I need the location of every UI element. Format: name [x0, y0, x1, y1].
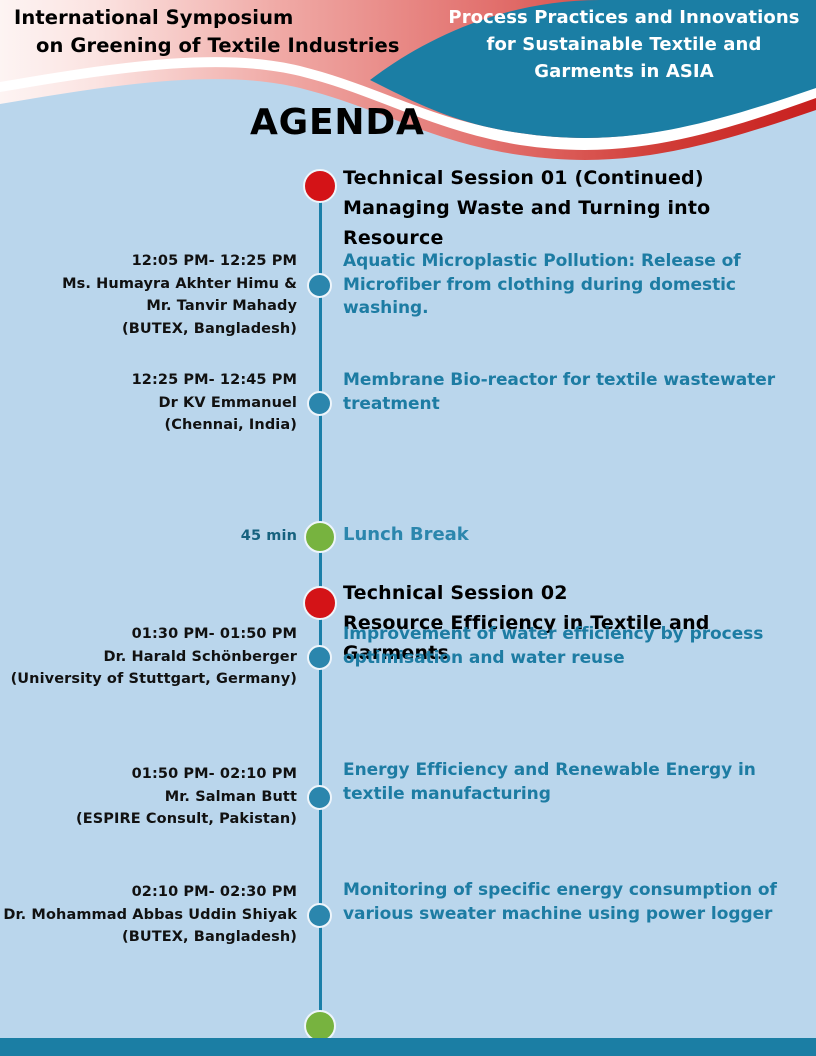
talk-4-topic-line2: textile manufacturing [343, 783, 808, 807]
talk-marker-icon [307, 391, 332, 416]
talk-5-affiliation: (BUTEX, Bangladesh) [0, 926, 297, 949]
talk-1-speaker-line2: Mr. Tanvir Mahady [0, 295, 297, 318]
talk-4-speaker-line1: Mr. Salman Butt [0, 786, 297, 809]
talk-5-topic-line2: various sweater machine using power logg… [343, 903, 808, 927]
session-marker-icon [303, 169, 337, 203]
session-marker-icon [303, 586, 337, 620]
talk-marker-icon [307, 903, 332, 928]
symposium-title-line2: on Greening of Textile Industries [14, 32, 414, 60]
session-01-title-line1: Technical Session 01 (Continued) [343, 163, 813, 193]
theme-title-line3: Garments in ASIA [440, 58, 808, 85]
talk-2-meta: 12:25 PM- 12:45 PM Dr KV Emmanuel (Chenn… [0, 369, 297, 437]
talk-1-speaker-line1: Ms. Humayra Akhter Himu & [0, 273, 297, 296]
talk-3-topic: Improvement of water efficiency by proce… [343, 623, 808, 670]
agenda-timeline: Technical Session 01 (Continued) Managin… [0, 155, 816, 1035]
talk-2-affiliation: (Chennai, India) [0, 414, 297, 437]
talk-1-topic-line2: Microfiber from clothing during domestic [343, 274, 808, 298]
talk-marker-icon [307, 273, 332, 298]
theme-title-line2: for Sustainable Textile and [440, 31, 808, 58]
talk-1-affiliation: (BUTEX, Bangladesh) [0, 318, 297, 341]
talk-1-topic-line1: Aquatic Microplastic Pollution: Release … [343, 250, 808, 274]
break-duration: 45 min [0, 525, 297, 548]
talk-3-affiliation: (University of Stuttgart, Germany) [0, 668, 297, 691]
talk-1-topic-line3: washing. [343, 297, 808, 321]
talk-1-topic: Aquatic Microplastic Pollution: Release … [343, 250, 808, 321]
talk-4-topic-line1: Energy Efficiency and Renewable Energy i… [343, 759, 808, 783]
agenda-page: International Symposium on Greening of T… [0, 0, 816, 1056]
talk-2-topic-line1: Membrane Bio-reactor for textile wastewa… [343, 369, 808, 393]
break-label: Lunch Break [343, 523, 469, 547]
page-title: AGENDA [250, 101, 425, 145]
talk-2-speaker-line1: Dr KV Emmanuel [0, 392, 297, 415]
talk-4-affiliation: (ESPIRE Consult, Pakistan) [0, 808, 297, 831]
theme-title-line1: Process Practices and Innovations [440, 4, 808, 31]
talk-4-topic: Energy Efficiency and Renewable Energy i… [343, 759, 808, 806]
session-02-title-line1: Technical Session 02 [343, 578, 813, 608]
talk-4-time: 01:50 PM- 02:10 PM [0, 763, 297, 786]
session-01-title-line2: Managing Waste and Turning into Resource [343, 193, 813, 253]
talk-2-topic: Membrane Bio-reactor for textile wastewa… [343, 369, 808, 416]
symposium-title-line1: International Symposium [14, 4, 414, 32]
talk-5-time: 02:10 PM- 02:30 PM [0, 881, 297, 904]
talk-3-topic-line1: Improvement of water efficiency by proce… [343, 623, 808, 647]
talk-5-meta: 02:10 PM- 02:30 PM Dr. Mohammad Abbas Ud… [0, 881, 297, 949]
talk-2-time: 12:25 PM- 12:45 PM [0, 369, 297, 392]
talk-3-speaker-line1: Dr. Harald Schönberger [0, 646, 297, 669]
talk-5-speaker-line1: Dr. Mohammad Abbas Uddin Shiyak [0, 904, 297, 927]
talk-4-meta: 01:50 PM- 02:10 PM Mr. Salman Butt (ESPI… [0, 763, 297, 831]
talk-1-time: 12:05 PM- 12:25 PM [0, 250, 297, 273]
theme-title: Process Practices and Innovations for Su… [440, 4, 808, 85]
footer-bar [0, 1038, 816, 1056]
talk-3-time: 01:30 PM- 01:50 PM [0, 623, 297, 646]
talk-marker-icon [307, 645, 332, 670]
talk-2-topic-line2: treatment [343, 393, 808, 417]
talk-3-topic-line2: optimisation and water reuse [343, 647, 808, 671]
talk-5-topic: Monitoring of specific energy consumptio… [343, 879, 808, 926]
break-marker-icon [304, 521, 336, 553]
talk-5-topic-line1: Monitoring of specific energy consumptio… [343, 879, 808, 903]
symposium-title: International Symposium on Greening of T… [14, 4, 414, 60]
talk-marker-icon [307, 785, 332, 810]
talk-1-meta: 12:05 PM- 12:25 PM Ms. Humayra Akhter Hi… [0, 250, 297, 340]
break-duration-value: 45 min [0, 525, 297, 548]
session-01-heading: Technical Session 01 (Continued) Managin… [343, 163, 813, 253]
talk-3-meta: 01:30 PM- 01:50 PM Dr. Harald Schönberge… [0, 623, 297, 691]
